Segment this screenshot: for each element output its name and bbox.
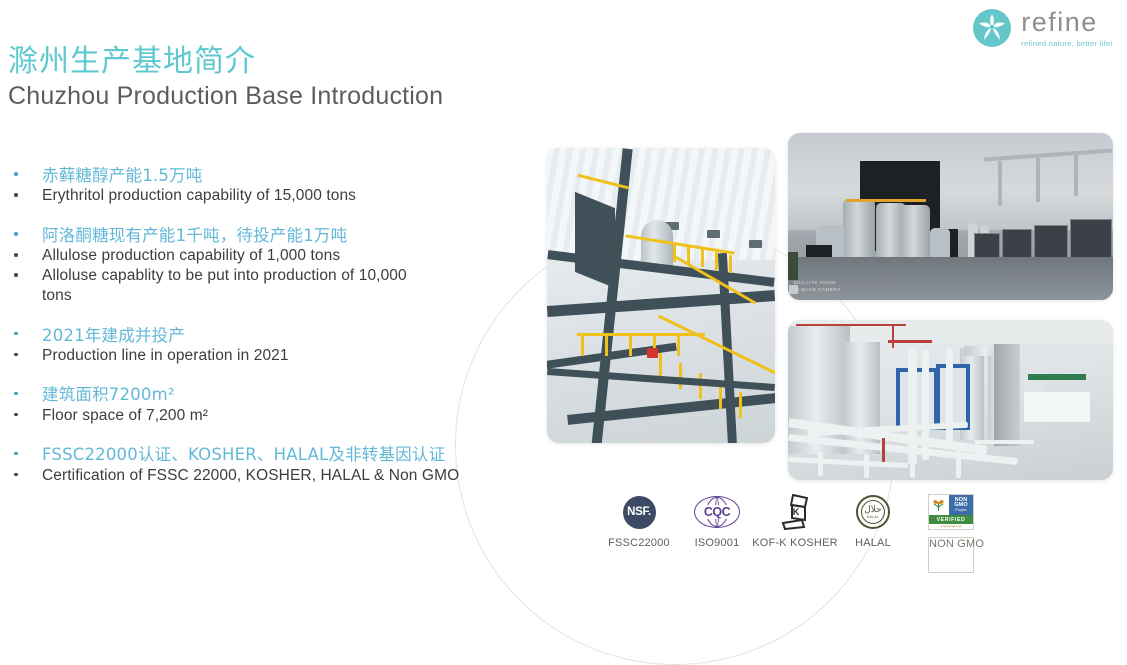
bullet-group: 赤藓糖醇产能1.5万吨 Erythritol production capabi… <box>10 165 540 206</box>
bullet-dot-icon <box>10 232 22 236</box>
bullet-group: 阿洛酮糖现有产能1千吨，待投产能1万吨 Allulose production … <box>10 225 540 306</box>
halal-arabic-glyph: حلال <box>864 505 881 514</box>
bullet-dot-icon <box>10 172 22 176</box>
bullet-dot-icon <box>10 332 22 336</box>
brand-logo: refine refined nature, better life! <box>972 8 1113 48</box>
factory-interior-photo <box>547 148 775 443</box>
bullet-dot-icon <box>10 473 22 477</box>
bullet-group: FSSC22000认证、KOSHER、HALAL及非转基因认证 Certific… <box>10 444 540 485</box>
certification-label: ISO9001 <box>695 537 740 549</box>
bullet-dot-icon <box>10 253 22 257</box>
bullet-dot-icon <box>10 193 22 197</box>
butterfly-icon <box>931 498 946 513</box>
nsf-badge-icon: NSF. <box>623 492 656 532</box>
kof-k-kosher-badge-icon: K <box>780 492 810 532</box>
nsf-mark-text: NSF. <box>623 496 656 529</box>
logo-tagline: refined nature, better life! <box>1021 39 1113 48</box>
bullet-group: 2021年建成并投产 Production line in operation … <box>10 325 540 366</box>
bullet-row-cn: 建筑面积7200m² <box>10 384 540 405</box>
bullet-row-cn: 阿洛酮糖现有产能1千吨，待投产能1万吨 <box>10 225 540 246</box>
certification-label: NON GMO <box>928 537 974 573</box>
halal-mark-text: HALAL <box>867 515 879 519</box>
bullet-text-en: Alloluse capablity to be put into produc… <box>22 266 422 306</box>
certification-item-fssc22000: NSF. FSSC22000 <box>600 492 678 549</box>
halal-badge-icon: حلال HALAL <box>856 492 890 532</box>
bullet-row-en: Floor space of 7,200 m² <box>10 406 540 426</box>
bullet-text-en: Production line in operation in 2021 <box>22 346 289 366</box>
flower-mark-icon <box>972 8 1012 48</box>
certification-item-non-gmo: NON GMO Project VERIFIED nongmoproject.o… <box>912 492 990 573</box>
bullet-dot-icon <box>10 392 22 396</box>
bullet-dot-icon <box>10 273 22 277</box>
certification-label: FSSC22000 <box>608 537 670 549</box>
exterior-tanks-photo: M10 LITE ZOOM AI QUAD CAMERA <box>788 133 1113 300</box>
bullet-text-en: Floor space of 7,200 m² <box>22 406 208 426</box>
bullet-row-en: Allulose production capability of 1,000 … <box>10 246 540 266</box>
gmo-mark-sub: Project <box>955 509 966 513</box>
page-title-en: Chuzhou Production Base Introduction <box>8 82 443 111</box>
bullet-text-en: Certification of FSSC 22000, KOSHER, HAL… <box>22 466 459 486</box>
bullet-row-en: Production line in operation in 2021 <box>10 346 540 366</box>
certification-label: KOF-K KOSHER <box>752 537 838 549</box>
cqc-mark-text: CQC <box>703 505 731 519</box>
bullet-row-en: Erythritol production capability of 15,0… <box>10 186 540 206</box>
bullet-text-cn: FSSC22000认证、KOSHER、HALAL及非转基因认证 <box>22 444 445 465</box>
logo-wordmark: refine <box>1021 9 1098 36</box>
page-title-cn: 滁州生产基地简介 <box>8 36 256 80</box>
bullet-row-cn: 赤藓糖醇产能1.5万吨 <box>10 165 540 186</box>
certification-item-iso9001: CQC ISO9001 <box>678 492 756 549</box>
process-hall-photo <box>788 320 1113 480</box>
bullet-text-cn: 赤藓糖醇产能1.5万吨 <box>22 165 202 186</box>
svg-text:K: K <box>793 507 800 517</box>
bullet-list: 赤藓糖醇产能1.5万吨 Erythritol production capabi… <box>10 165 540 504</box>
bullet-row-en: Certification of FSSC 22000, KOSHER, HAL… <box>10 466 540 486</box>
bullet-text-cn: 2021年建成并投产 <box>22 325 185 346</box>
bullet-group: 建筑面积7200m² Floor space of 7,200 m² <box>10 384 540 425</box>
bullet-text-cn: 阿洛酮糖现有产能1千吨，待投产能1万吨 <box>22 225 347 246</box>
certification-item-halal: حلال HALAL HALAL <box>834 492 912 549</box>
cqc-badge-icon: CQC <box>694 492 740 532</box>
certification-item-kof-k-kosher: K KOF-K KOSHER <box>756 492 834 549</box>
gmo-verified-bar: VERIFIED <box>929 515 973 524</box>
bullet-text-cn: 建筑面积7200m² <box>22 384 175 405</box>
camera-watermark-text: M10 LITE ZOOM AI QUAD CAMERA <box>794 280 841 294</box>
non-gmo-project-verified-badge-icon: NON GMO Project VERIFIED nongmoproject.o… <box>928 492 974 532</box>
bullet-dot-icon <box>10 413 22 417</box>
certification-badges: NSF. FSSC22000 CQC ISO9001 K KOF-K KOSHE… <box>600 492 990 573</box>
bullet-text-en: Allulose production capability of 1,000 … <box>22 246 340 266</box>
bullet-dot-icon <box>10 452 22 456</box>
gmo-url-text: nongmoproject.org <box>929 524 973 529</box>
bullet-dot-icon <box>10 353 22 357</box>
bullet-text-en: Erythritol production capability of 15,0… <box>22 186 356 206</box>
bullet-row-cn: 2021年建成并投产 <box>10 325 540 346</box>
bullet-row-en: Alloluse capablity to be put into produc… <box>10 266 540 306</box>
certification-label: HALAL <box>855 537 891 549</box>
bullet-row-cn: FSSC22000认证、KOSHER、HALAL及非转基因认证 <box>10 444 540 465</box>
